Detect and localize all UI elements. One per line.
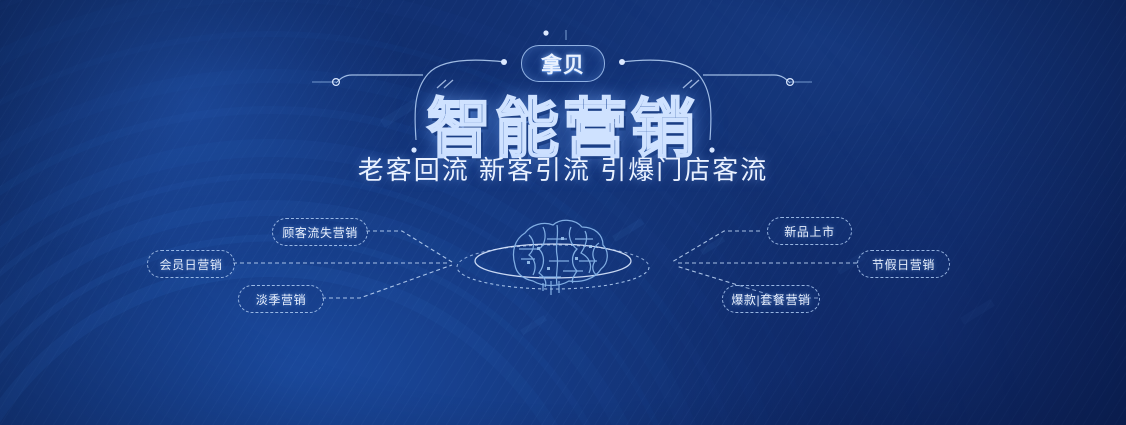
marketing-tag-left-3[interactable]: 淡季营销	[238, 285, 324, 313]
marketing-tag-left-2[interactable]: 会员日营销	[147, 250, 235, 278]
brain-icon	[443, 205, 663, 315]
marketing-tag-left-1[interactable]: 顾客流失营销	[272, 218, 368, 246]
marketing-tag-right-3[interactable]: 爆款|套餐营销	[722, 285, 820, 313]
smart-marketing-banner: 拿贝 智能营销 老客回流 新客引流 引爆门店客流	[0, 0, 1126, 425]
marketing-tag-right-1[interactable]: 新品上市	[767, 217, 852, 245]
marketing-tag-right-2[interactable]: 节假日营销	[857, 250, 950, 278]
